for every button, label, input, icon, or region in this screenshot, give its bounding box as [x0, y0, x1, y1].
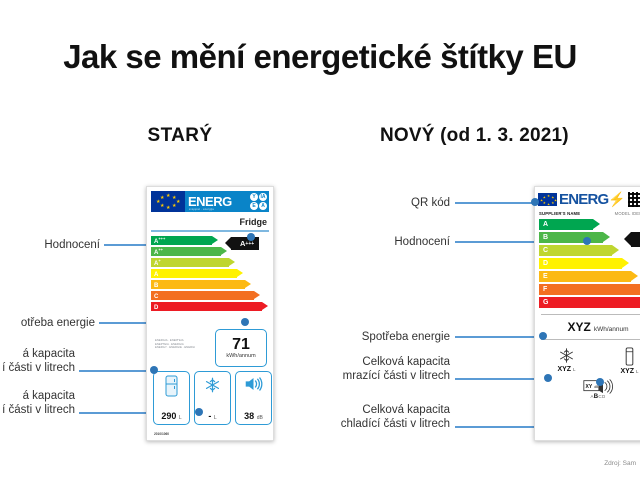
- new-fridge-capacity-cell: XYZ L: [620, 347, 638, 375]
- old-bar-label: B: [151, 280, 158, 289]
- bar-arrow-icon: [254, 291, 260, 299]
- new-energy-consumption: XYZ kWh/annum: [535, 320, 640, 334]
- old-column-heading: STARÝ: [40, 125, 320, 147]
- bar-arrow-icon: [593, 219, 600, 229]
- old-noise-value: 38 dB: [244, 411, 263, 421]
- anno-old-fridge-1: á kapacita: [0, 389, 75, 403]
- old-rating-plus: +++: [245, 241, 254, 247]
- dot-new-qr: [531, 198, 539, 206]
- bar-arrow-icon: [603, 232, 610, 242]
- anno-new-energy: Spotřeba energie: [300, 330, 450, 344]
- leader-new-energy: [455, 336, 543, 338]
- snowflake-icon: [204, 375, 221, 395]
- anno-old-energy: otřeba energie: [0, 316, 95, 330]
- anno-new-qr: QR kód: [340, 196, 450, 210]
- new-rating-badge: [631, 232, 640, 247]
- old-rating-bar: A++: [151, 247, 221, 256]
- old-brand-subtext: ενεργεια · energija: [189, 208, 214, 211]
- old-regulation-number: 2010/1060: [154, 432, 169, 436]
- new-rating-bar: B: [539, 232, 603, 243]
- brand-circle-2: IA: [259, 193, 267, 201]
- dot-old-energy: [241, 318, 249, 326]
- old-fridge-capacity-value: 290 L: [161, 411, 181, 421]
- anno-old-freezer-2: í části v litrech: [0, 361, 75, 375]
- new-noise-block: XY dB ABCD: [535, 379, 640, 400]
- old-product-title: Fridge: [147, 217, 267, 227]
- leader-new-qr: [455, 202, 535, 204]
- eu-flag-icon: ★★ ★★ ★★ ★★: [151, 191, 185, 212]
- old-freezer-capacity-cell: - L: [194, 371, 231, 425]
- old-bar-label: C: [151, 291, 158, 300]
- old-freezer-capacity-value: - L: [208, 411, 216, 421]
- new-rating-bar: A: [539, 219, 593, 230]
- anno-new-freezer-1: Celková kapacita: [300, 355, 450, 369]
- new-bar-label: F: [539, 286, 547, 293]
- new-bar-label: A: [539, 221, 548, 228]
- new-model-identifier: MODEL IDENTIFIER: [615, 211, 640, 216]
- new-bar-label: B: [539, 234, 548, 241]
- dot-new-fridge: [596, 378, 604, 386]
- new-fridge-cap-num: XYZ: [620, 368, 634, 375]
- dot-old-freezer: [195, 408, 203, 416]
- old-label-header: ★★ ★★ ★★ ★★ ENERG ενεργεια · energija Y …: [151, 191, 269, 212]
- new-bar-label: C: [539, 247, 548, 254]
- new-energy-value: XYZ: [567, 320, 590, 334]
- qr-code-icon[interactable]: [628, 192, 640, 207]
- new-freezer-capacity-value: XYZ L: [557, 366, 575, 373]
- slide-canvas: Jak se mění energetické štítky EU STARÝ …: [0, 0, 640, 480]
- old-noise-cell: 38 dB: [235, 371, 272, 425]
- old-brand-text: ENERG: [188, 196, 232, 207]
- old-rating-bar: A+++: [151, 236, 212, 245]
- old-brand-block: ENERG ενεργεια · energija Y IA E A: [185, 191, 269, 212]
- old-rating-bar: C: [151, 291, 254, 300]
- brand-circle-3: E: [250, 202, 258, 210]
- anno-old-freezer-1: á kapacita: [0, 347, 75, 361]
- old-bar-label: A+++: [151, 236, 165, 245]
- old-freezer-cap-unit: L: [214, 415, 217, 421]
- new-energy-label: ★★ ★★ ★★ ★★ ENERG ⚡ SUPPLIER'S NAME MODE…: [534, 186, 640, 441]
- old-bar-label: D: [151, 302, 158, 311]
- new-bar-label: E: [539, 273, 548, 280]
- dot-old-fridge: [150, 366, 158, 374]
- new-divider-1: [541, 314, 640, 315]
- old-rating-bar: D: [151, 302, 262, 311]
- old-bar-label: A+: [151, 258, 161, 267]
- new-freezer-cap-unit: L: [573, 367, 576, 372]
- noise-class-post: CD: [598, 394, 605, 399]
- leader-old-energy: [99, 322, 151, 324]
- fridge-icon: [165, 375, 178, 397]
- bar-arrow-icon: [262, 302, 268, 310]
- fridge-icon-new: [623, 347, 636, 366]
- anno-new-freezer-2: mrazící části v litrech: [300, 369, 450, 383]
- old-energy-label: ★★ ★★ ★★ ★★ ENERG ενεργεια · energija Y …: [146, 186, 274, 441]
- new-supplier-name: SUPPLIER'S NAME: [539, 211, 580, 216]
- new-rating-bar: C: [539, 245, 612, 256]
- dot-new-rating: [583, 237, 591, 245]
- old-energy-consumption: 71 kWh/annum: [215, 329, 267, 367]
- page-title: Jak se mění energetické štítky EU: [0, 38, 640, 76]
- svg-text:XY: XY: [586, 384, 593, 390]
- old-bar-label: A: [151, 269, 158, 278]
- old-freezer-cap-num: -: [208, 411, 211, 421]
- new-fridge-capacity-value: XYZ L: [620, 368, 638, 375]
- old-fridge-cap-unit: L: [179, 415, 182, 421]
- leader-old-rating: [104, 244, 146, 246]
- old-rating-bar: A+: [151, 258, 229, 267]
- new-energy-unit: kWh/annum: [594, 326, 629, 333]
- new-label-header: ★★ ★★ ★★ ★★ ENERG ⚡: [538, 191, 640, 208]
- old-rating-bar: B: [151, 280, 245, 289]
- bar-arrow-icon: [245, 280, 251, 288]
- speaker-icon: [244, 375, 263, 393]
- new-noise-class-row: ABCD: [590, 394, 605, 400]
- leader-old-freezer: [79, 370, 154, 372]
- old-brand-circles: Y IA E A: [250, 193, 267, 210]
- new-divider-2: [541, 339, 640, 340]
- bar-arrow-icon: [237, 269, 243, 277]
- new-rating-bar: D: [539, 258, 622, 269]
- old-noise-unit: dB: [257, 415, 263, 421]
- old-fridge-cap-num: 290: [161, 411, 176, 421]
- bar-arrow-icon: [212, 236, 218, 244]
- bar-arrow-icon: [612, 245, 619, 255]
- old-rating-bar: A: [151, 269, 237, 278]
- bar-arrow-icon: [229, 258, 235, 266]
- dot-new-energy: [539, 332, 547, 340]
- new-column-heading: NOVÝ (od 1. 3. 2021): [380, 125, 640, 147]
- new-rating-scale: ABCDEFG: [539, 219, 640, 308]
- anno-new-fridge-2: chladící části v litrech: [300, 417, 450, 431]
- new-bar-label: G: [539, 299, 548, 306]
- source-note: Zdroj: Sam: [604, 460, 636, 467]
- new-rating-bar: E: [539, 271, 631, 282]
- anno-old-rating: Hodnocení: [0, 238, 100, 252]
- brand-circle-1: Y: [250, 193, 258, 201]
- old-icon-row: 290 L - L: [153, 371, 272, 425]
- old-divider: [151, 230, 269, 232]
- new-brand-text: ENERG: [559, 192, 608, 207]
- new-freezer-capacity-cell: XYZ L: [557, 347, 575, 375]
- new-rating-bar: G: [539, 297, 640, 308]
- new-label-identity-row: SUPPLIER'S NAME MODEL IDENTIFIER: [539, 211, 640, 216]
- bar-arrow-icon: [622, 258, 629, 268]
- old-rating-badge: A+++: [231, 237, 259, 250]
- eu-flag-icon-new: ★★ ★★ ★★ ★★: [538, 193, 557, 206]
- old-fridge-capacity-cell: 290 L: [153, 371, 190, 425]
- dot-new-freezer: [544, 374, 552, 382]
- new-freezer-cap-num: XYZ: [557, 366, 571, 373]
- old-noise-num: 38: [244, 411, 254, 421]
- lightning-bolt-icon: ⚡: [608, 191, 625, 208]
- anno-new-rating: Hodnocení: [330, 235, 450, 249]
- brand-circle-4: A: [259, 202, 267, 210]
- old-energy-unit: kWh/annum: [226, 353, 255, 359]
- bar-arrow-icon: [631, 271, 638, 281]
- old-energy-value: 71: [232, 337, 250, 353]
- new-rating-bar: F: [539, 284, 640, 295]
- new-bar-label: D: [539, 260, 548, 267]
- anno-new-fridge-1: Celková kapacita: [300, 403, 450, 417]
- old-multilingual-text: ENERGIA · ENEPГEIAENEPTEIA · ENERGIAENER…: [155, 339, 195, 350]
- old-bar-label: A++: [151, 247, 163, 256]
- anno-old-fridge-2: í části v litrech: [0, 403, 75, 417]
- snowflake-icon-new: [558, 347, 575, 364]
- dot-old-rating: [247, 233, 255, 241]
- new-icon-row: XYZ L XYZ L: [535, 347, 640, 375]
- new-fridge-cap-unit: L: [636, 369, 639, 374]
